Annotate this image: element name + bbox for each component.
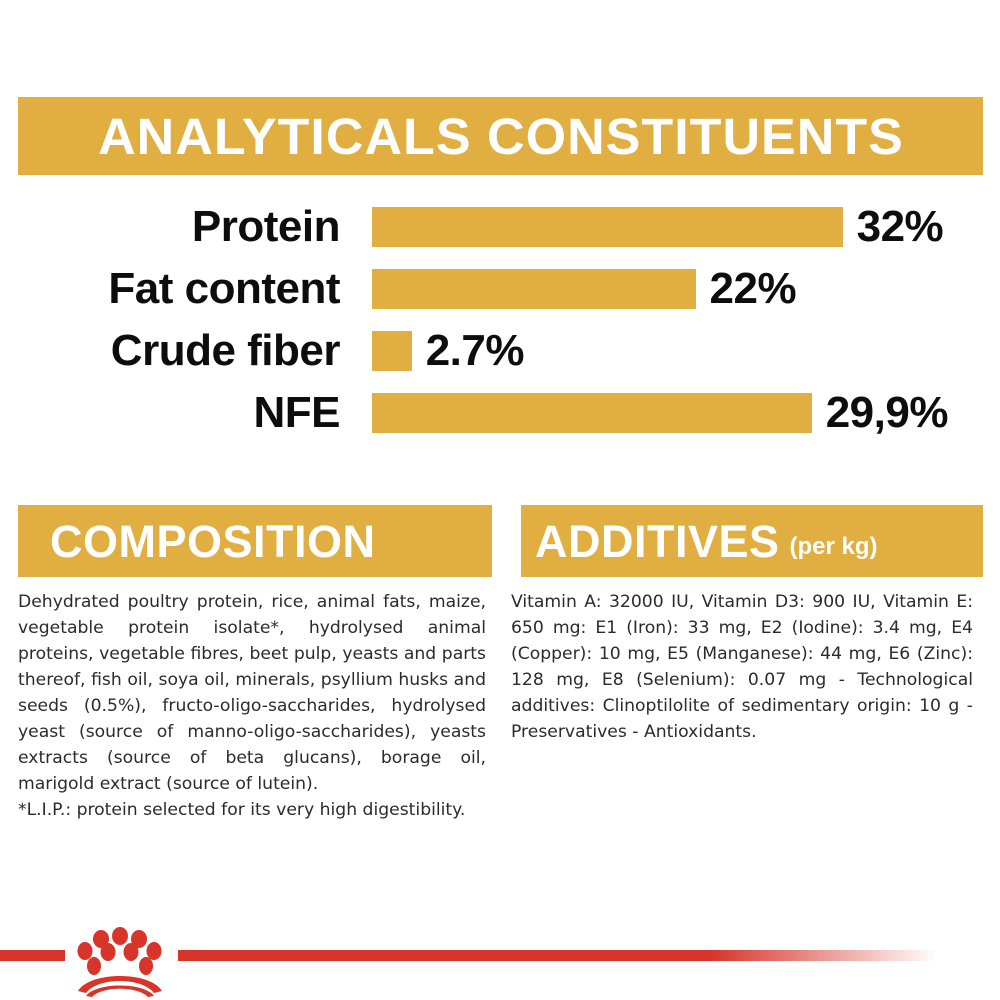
- chart-row: Fat content 22%: [0, 258, 1000, 320]
- composition-body: Dehydrated poultry protein, rice, animal…: [18, 589, 486, 823]
- bar-fill-nfe: [372, 393, 812, 433]
- analyticals-title: ANALYTICALS CONSTITUENTS: [98, 111, 904, 162]
- additives-subtitle: (per kg): [790, 535, 878, 559]
- footer-brand-rule: [0, 930, 1000, 1000]
- rule-left-segment: [0, 950, 65, 961]
- bar-value-crude-fiber: 2.7%: [426, 329, 524, 373]
- bar-value-protein: 32%: [857, 205, 944, 249]
- bar-fill-crude-fiber: [372, 331, 412, 371]
- composition-ingredients: Dehydrated poultry protein, rice, animal…: [18, 592, 486, 794]
- additives-title: ADDITIVES: [535, 519, 780, 564]
- chart-row: Protein 32%: [0, 196, 1000, 258]
- bar-label-fat-content: Fat content: [0, 267, 340, 311]
- composition-header-band: COMPOSITION: [18, 505, 492, 577]
- additives-list: Vitamin A: 32000 IU, Vitamin D3: 900 IU,…: [511, 592, 973, 742]
- bar-label-protein: Protein: [0, 205, 340, 249]
- bar-track: 2.7%: [372, 320, 1000, 382]
- composition-title: COMPOSITION: [50, 519, 376, 564]
- composition-footnote: *L.I.P.: protein selected for its very h…: [18, 797, 486, 823]
- chart-row: Crude fiber 2.7%: [0, 320, 1000, 382]
- analyticals-bar-chart: Protein 32% Fat content 22% Crude fiber …: [0, 196, 1000, 458]
- chart-row: NFE 29,9%: [0, 382, 1000, 444]
- additives-header-band: ADDITIVES (per kg): [521, 505, 983, 577]
- bar-track: 29,9%: [372, 382, 1000, 444]
- bar-label-nfe: NFE: [0, 391, 340, 435]
- rule-right-segment: [178, 950, 938, 961]
- bar-value-fat-content: 22%: [710, 267, 797, 311]
- royal-canin-crown-icon: [68, 925, 172, 997]
- bar-track: 22%: [372, 258, 1000, 320]
- bar-track: 32%: [372, 196, 1000, 258]
- bar-fill-protein: [372, 207, 843, 247]
- bar-label-crude-fiber: Crude fiber: [0, 329, 340, 373]
- additives-body: Vitamin A: 32000 IU, Vitamin D3: 900 IU,…: [511, 589, 973, 745]
- product-info-panel: ANALYTICALS CONSTITUENTS Protein 32% Fat…: [0, 0, 1000, 1000]
- bar-value-nfe: 29,9%: [826, 391, 948, 435]
- bar-fill-fat-content: [372, 269, 696, 309]
- analyticals-header-band: ANALYTICALS CONSTITUENTS: [18, 97, 983, 175]
